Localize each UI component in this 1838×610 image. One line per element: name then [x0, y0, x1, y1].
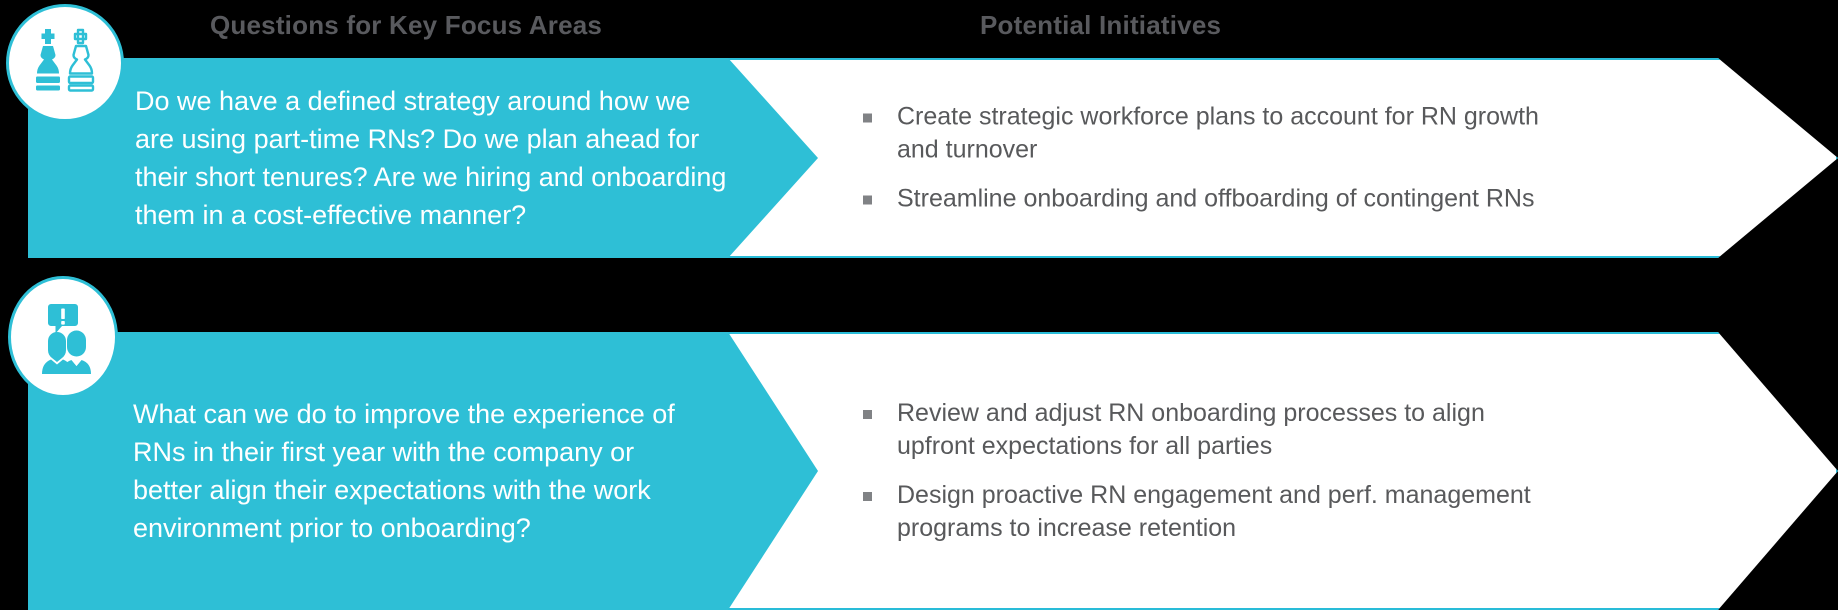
column-header-questions: Questions for Key Focus Areas: [210, 8, 602, 42]
square-bullet-icon: [863, 492, 872, 501]
square-bullet-icon: [863, 410, 872, 419]
focus-area-row-1: Do we have a defined strategy around how…: [0, 58, 1838, 258]
initiative-text: Review and adjust RN onboarding processe…: [897, 399, 1485, 460]
initiatives-list: Review and adjust RN onboarding processe…: [855, 397, 1555, 545]
initiative-text: Create strategic workforce plans to acco…: [897, 103, 1539, 164]
list-item: Streamline onboarding and offboarding of…: [855, 183, 1555, 216]
square-bullet-icon: [863, 114, 872, 123]
square-bullet-icon: [863, 196, 872, 205]
slide-canvas: Questions for Key Focus Areas Potential …: [0, 0, 1838, 610]
focus-area-question: What can we do to improve the experience…: [133, 395, 693, 547]
people-feedback-icon-badge: [8, 276, 118, 398]
chess-pieces-icon-badge: [6, 4, 124, 122]
list-item: Review and adjust RN onboarding processe…: [855, 397, 1555, 463]
list-item: Design proactive RN engagement and perf.…: [855, 479, 1555, 545]
initiatives-list: Create strategic workforce plans to acco…: [855, 101, 1555, 216]
focus-area-question: Do we have a defined strategy around how…: [135, 82, 735, 234]
list-item: Create strategic workforce plans to acco…: [855, 101, 1555, 167]
initiative-text: Design proactive RN engagement and perf.…: [897, 481, 1531, 542]
focus-area-row-2: What can we do to improve the experience…: [0, 332, 1838, 610]
column-header-initiatives: Potential Initiatives: [980, 8, 1221, 42]
initiative-text: Streamline onboarding and offboarding of…: [897, 185, 1534, 213]
people-feedback-icon: [26, 300, 100, 374]
chess-pieces-icon: [27, 25, 103, 101]
